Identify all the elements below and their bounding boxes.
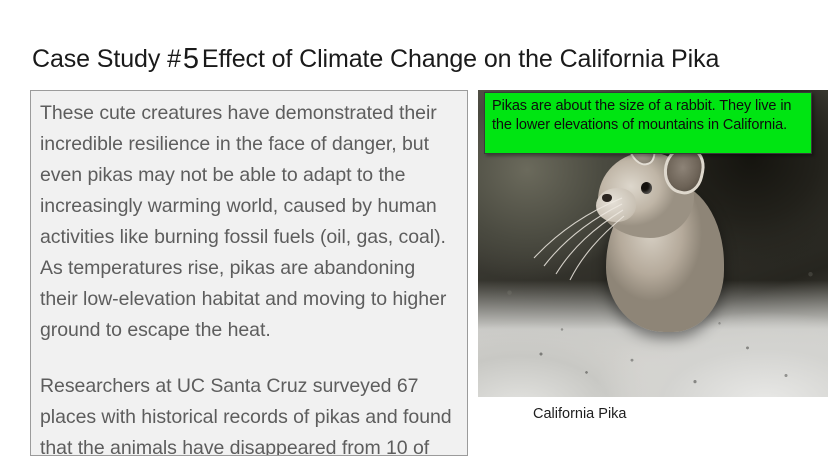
body-text-box: These cute creatures have demonstrated t… <box>30 90 468 456</box>
title-main: Effect of Climate Change on the Californ… <box>202 45 719 73</box>
callout-text: Pikas are about the size of a rabbit. Th… <box>492 97 805 135</box>
pika-nose-shape <box>602 194 612 202</box>
title-prefix: Case Study # <box>32 45 181 73</box>
photo-caption: California Pika <box>533 404 627 424</box>
green-callout-box: Pikas are about the size of a rabbit. Th… <box>484 92 812 154</box>
pika-eye-shape <box>641 182 652 194</box>
body-paragraph-1: These cute creatures have demonstrated t… <box>40 98 458 346</box>
pika-muzzle-shape <box>596 188 636 222</box>
page-title: Case Study #5Effect of Climate Change on… <box>32 44 719 74</box>
case-number: 5 <box>181 43 202 75</box>
body-paragraph-2: Researchers at UC Santa Cruz surveyed 67… <box>40 371 458 456</box>
